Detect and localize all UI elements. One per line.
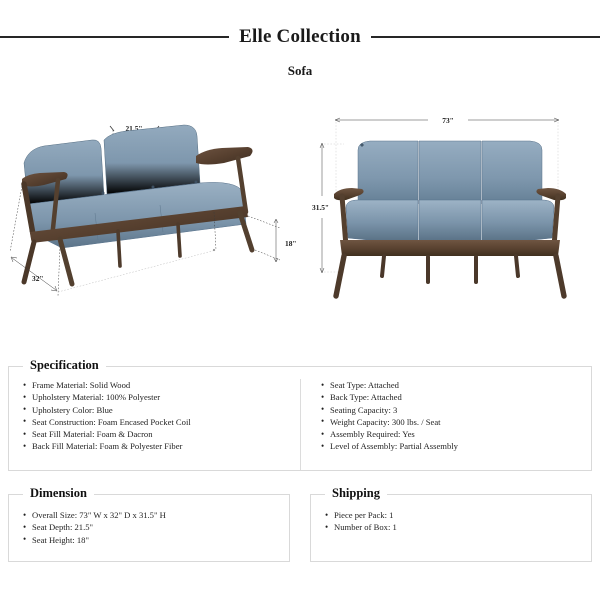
dimension-legend: Dimension [23,486,94,501]
list-item: Piece per Pack: 1 [325,509,591,521]
list-item: Seat Type: Attached [321,379,591,391]
list-item: Number of Box: 1 [325,521,591,533]
sofa-front-view: 73" 31.5" [300,100,600,345]
list-item: Upholstery Color: Blue [23,404,300,416]
list-item: Back Fill Material: Foam & Polyester Fib… [23,440,300,452]
list-item: Weight Capacity: 300 lbs. / Seat [321,416,591,428]
seat-cushions [346,200,554,241]
back-cushions [358,141,542,204]
leg-center-right [178,224,180,256]
tufting-button [361,144,364,147]
leg-front-right [556,256,564,296]
sofa-perspective-view: 21.5" [0,100,300,345]
list-item: Seat Construction: Foam Encased Pocket C… [23,416,300,428]
back-cushion-left [24,140,104,204]
specification-column-right: Seat Type: Attached Back Type: Attached … [300,379,591,470]
list-item: Level of Assembly: Partial Assembly [321,440,591,452]
dimension-label-seat-height: 18" [285,239,297,248]
tufting-button [152,186,155,189]
dimension-label-overall-width: 73" [442,116,454,125]
arm-post-left [342,196,346,246]
dimension-label-overall-depth: 32" [32,274,44,283]
dimension-seat-height [248,216,280,262]
page-subtitle: Sofa [0,63,600,79]
tufting-button [195,181,198,184]
product-illustrations: 21.5" [0,100,600,345]
specification-list-right: Seat Type: Attached Back Type: Attached … [321,379,591,453]
list-item: Upholstery Material: 100% Polyester [23,391,300,403]
list-item: Frame Material: Solid Wood [23,379,300,391]
leg-front-left [336,256,344,296]
header-rule-right [371,36,600,38]
page-header: Elle Collection [0,26,600,48]
shipping-list: Piece per Pack: 1 Number of Box: 1 [325,509,591,534]
arm-post-right [554,196,558,246]
specification-panel: Specification Frame Material: Solid Wood… [8,366,592,471]
list-item: Seating Capacity: 3 [321,404,591,416]
depth-extension-lines [58,249,216,292]
specification-list-left: Frame Material: Solid Wood Upholstery Ma… [23,379,300,453]
list-item: Assembly Required: Yes [321,428,591,440]
list-item: Seat Depth: 21.5" [23,521,289,533]
dimension-panel: Dimension Overall Size: 73" W x 32" D x … [8,494,290,562]
shipping-legend: Shipping [325,486,387,501]
specification-column-left: Frame Material: Solid Wood Upholstery Ma… [9,379,300,470]
list-item: Back Type: Attached [321,391,591,403]
back-cushion-right [104,125,200,194]
leg-front-right [240,213,252,250]
list-item: Seat Fill Material: Foam & Dacron [23,428,300,440]
page-title: Elle Collection [239,26,361,48]
tufting-button [102,192,105,195]
base-rail [340,240,560,256]
leg-rear-left [382,256,384,276]
shipping-panel: Shipping Piece per Pack: 1 Number of Box… [310,494,592,562]
leg-center [118,231,120,266]
header-rule-left [0,36,229,38]
list-item: Overall Size: 73" W x 32" D x 31.5" H [23,509,289,521]
dimension-label-overall-height: 31.5" [312,203,329,212]
list-item: Seat Height: 18" [23,534,289,546]
specification-legend: Specification [23,358,106,373]
arm-rest-right [196,147,253,165]
leg-rear-right [516,256,518,276]
dimension-list: Overall Size: 73" W x 32" D x 31.5" H Se… [23,509,289,546]
